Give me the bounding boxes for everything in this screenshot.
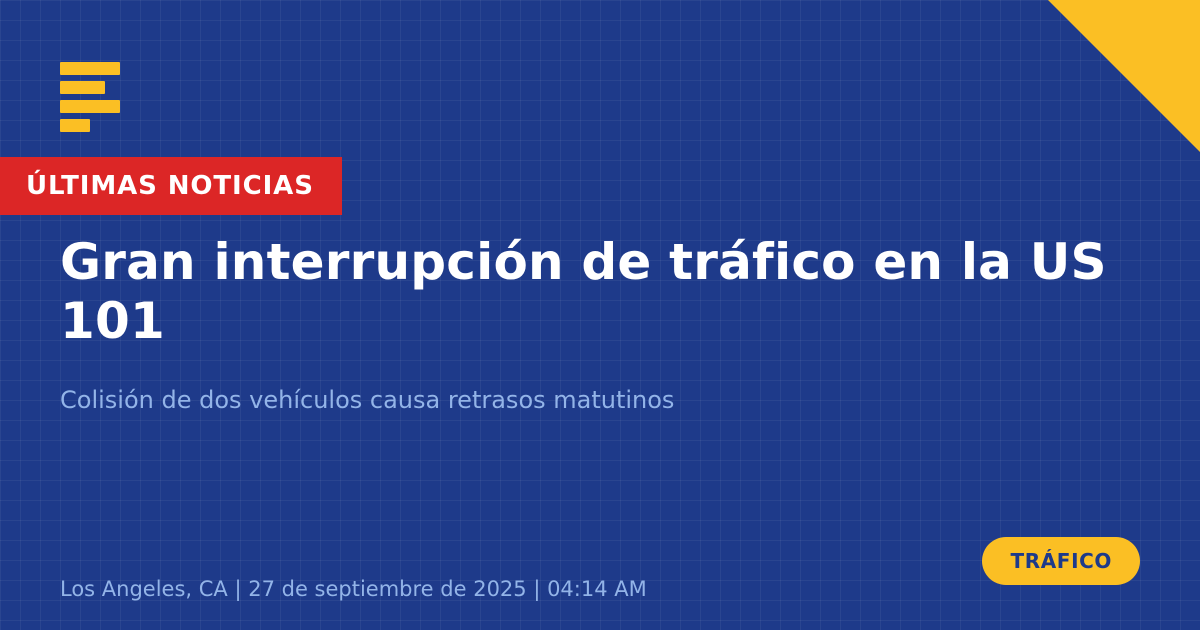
breaking-news-label: ÚLTIMAS NOTICIAS bbox=[26, 173, 314, 199]
logo-bar-3 bbox=[60, 100, 120, 113]
corner-wedge-decoration bbox=[1048, 0, 1200, 152]
headline: Gran interrupción de tráfico en la US 10… bbox=[60, 233, 1130, 351]
brand-logo[interactable] bbox=[60, 62, 120, 132]
breaking-news-card: ÚLTIMAS NOTICIAS Gran interrupción de tr… bbox=[0, 0, 1200, 630]
footer-meta: Los Angeles, CA | 27 de septiembre de 20… bbox=[60, 575, 647, 603]
logo-bar-2 bbox=[60, 81, 105, 94]
logo-bar-4 bbox=[60, 119, 90, 132]
breaking-news-badge: ÚLTIMAS NOTICIAS bbox=[0, 157, 342, 215]
category-badge-label: TRÁFICO bbox=[1010, 551, 1112, 571]
subtitle: Colisión de dos vehículos causa retrasos… bbox=[60, 384, 1080, 416]
logo-bar-1 bbox=[60, 62, 120, 75]
category-badge[interactable]: TRÁFICO bbox=[982, 537, 1140, 585]
